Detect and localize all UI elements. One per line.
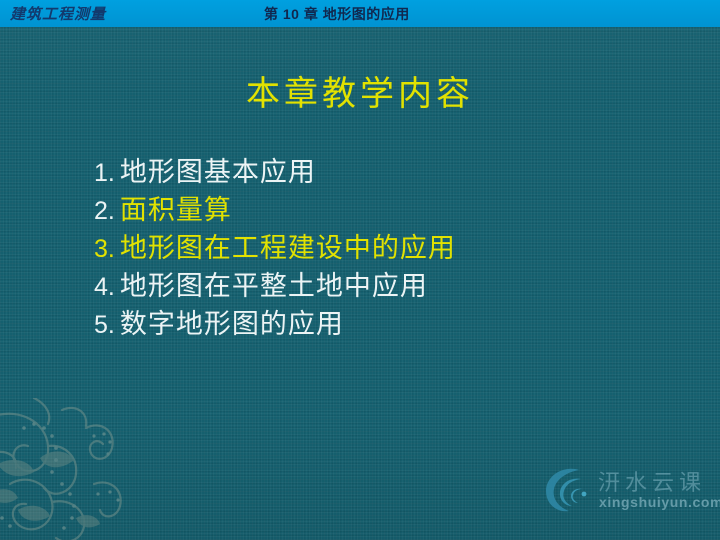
list-item-number: 1. xyxy=(94,159,120,187)
list-item: 4.地形图在平整土地中应用 xyxy=(94,268,654,306)
list-item-label: 数字地形图的应用 xyxy=(120,309,344,339)
course-title: 建筑工程测量 xyxy=(10,3,106,24)
list-item: 3.地形图在工程建设中的应用 xyxy=(94,230,654,268)
list-item-label: 面积量算 xyxy=(120,195,232,225)
list-item: 1.地形图基本应用 xyxy=(94,154,654,192)
wave-crescent-icon xyxy=(541,463,593,515)
presentation-slide: 建筑工程测量 第 10 章 地形图的应用 本章教学内容 1.地形图基本应用 2.… xyxy=(0,0,720,540)
watermark-brand-url: xingshuiyun.com xyxy=(599,494,720,510)
list-item-number: 4. xyxy=(94,273,120,301)
list-item-number: 3. xyxy=(94,235,120,263)
watermark-logo: 汧水云课 xingshuiyun.com xyxy=(541,461,717,523)
list-item-label: 地形图在平整土地中应用 xyxy=(120,271,428,301)
page-title: 本章教学内容 xyxy=(0,66,720,115)
floral-paisley-ornament-icon xyxy=(0,398,180,540)
list-item: 2.面积量算 xyxy=(94,192,654,230)
list-item-number: 2. xyxy=(94,197,120,225)
content-outline-list: 1.地形图基本应用 2.面积量算 3.地形图在工程建设中的应用 4.地形图在平整… xyxy=(94,154,654,344)
watermark-brand-cn: 汧水云课 xyxy=(598,465,706,497)
list-item-label: 地形图在工程建设中的应用 xyxy=(120,233,456,263)
chapter-title: 第 10 章 地形图的应用 xyxy=(264,4,410,24)
list-item: 5.数字地形图的应用 xyxy=(94,306,654,344)
slide-header-bar: 建筑工程测量 第 10 章 地形图的应用 xyxy=(0,0,720,27)
list-item-number: 5. xyxy=(94,311,120,339)
list-item-label: 地形图基本应用 xyxy=(120,157,316,187)
